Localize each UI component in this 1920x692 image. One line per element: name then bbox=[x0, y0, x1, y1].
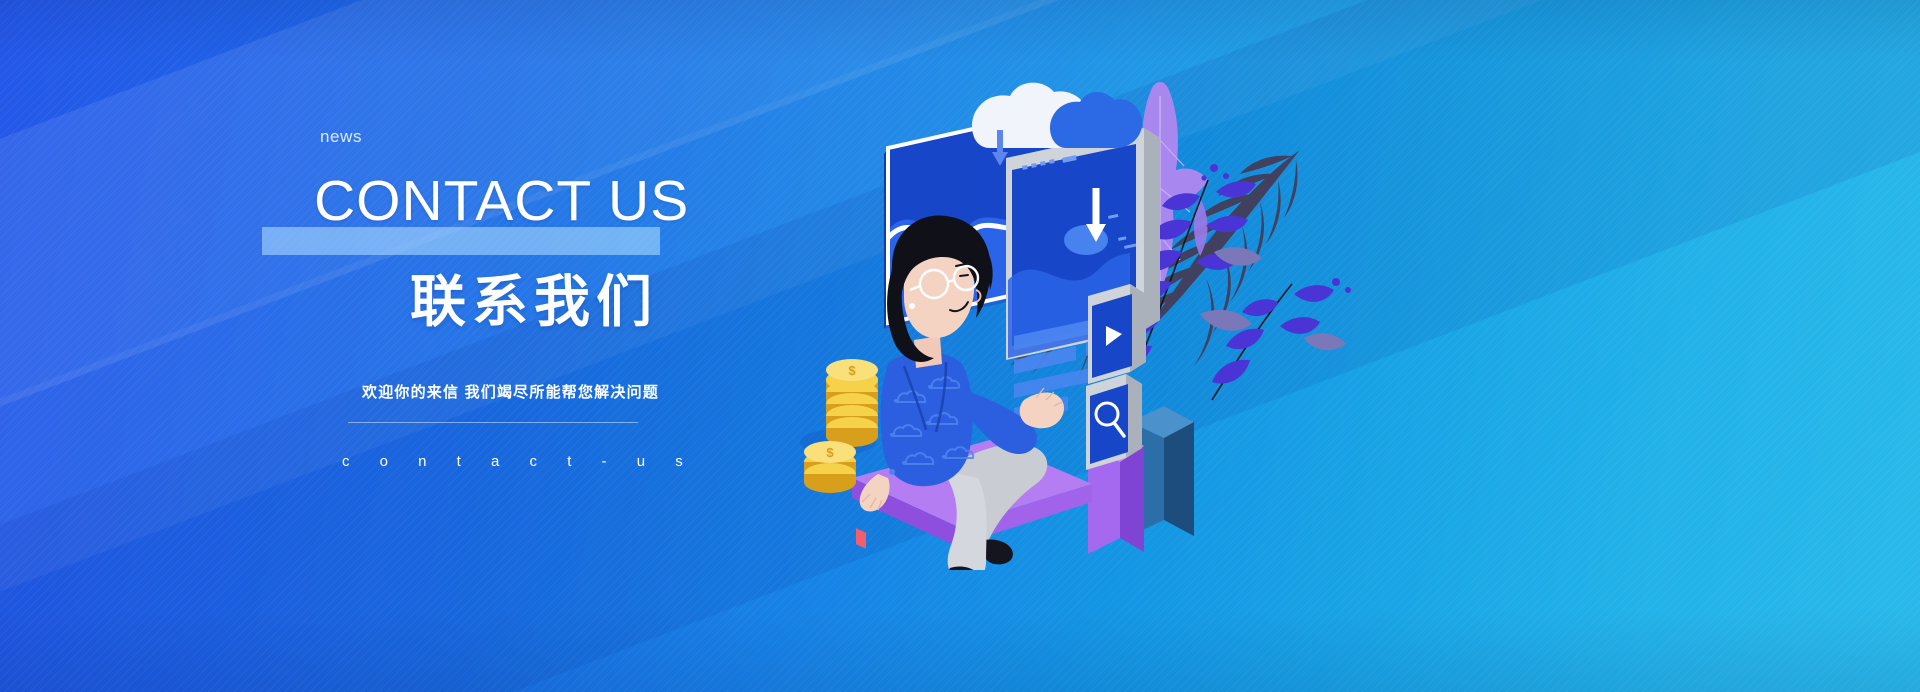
svg-text:$: $ bbox=[826, 445, 834, 460]
phone-panel bbox=[1006, 128, 1160, 422]
sweater-button bbox=[889, 469, 895, 475]
play-button-card bbox=[1088, 284, 1146, 384]
svg-text:$: $ bbox=[848, 363, 856, 378]
divider-rule bbox=[348, 422, 638, 423]
coin-stack: $ $ bbox=[800, 359, 878, 493]
hero-illustration: $ $ bbox=[800, 70, 1360, 570]
page-title-english: CONTACT US bbox=[314, 173, 689, 230]
contact-us-banner: news CONTACT US 联系我们 欢迎你的来信 我们竭尽所能帮您解决问题… bbox=[0, 0, 1920, 692]
